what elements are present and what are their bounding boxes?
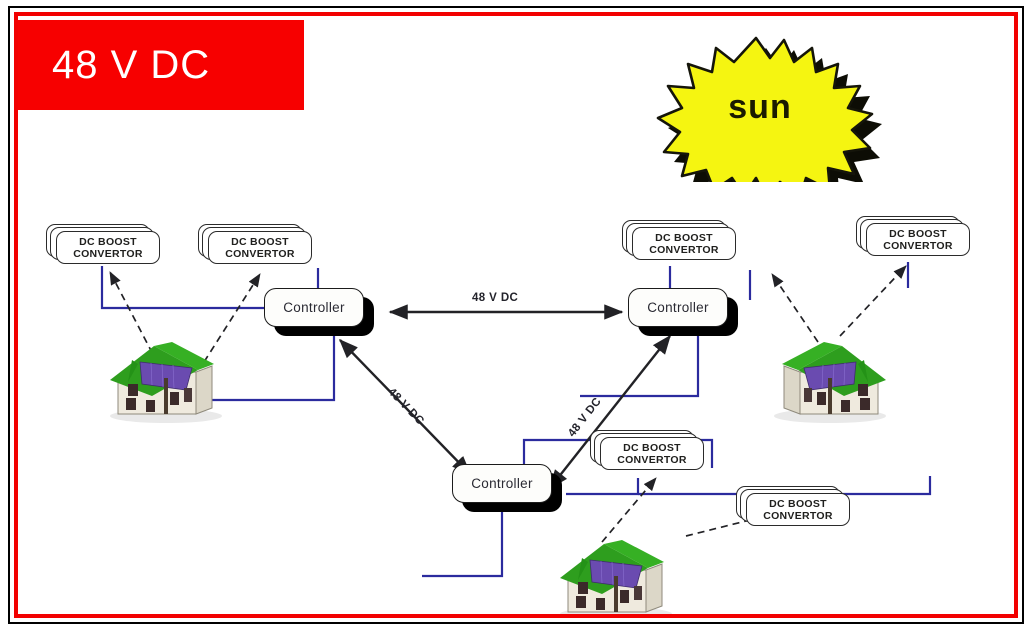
converter-line-2: CONVERTOR bbox=[225, 248, 295, 260]
converter-bottom-1[interactable]: DC BOOST CONVERTOR bbox=[590, 430, 702, 470]
house-with-solar-panel-icon bbox=[88, 316, 238, 426]
bus-label-horizontal: 48 V DC bbox=[472, 292, 518, 304]
converter-line-1: DC BOOST bbox=[655, 232, 713, 244]
converter-line-1: DC BOOST bbox=[769, 498, 827, 510]
converter-line-1: DC BOOST bbox=[231, 236, 289, 248]
card-layer-front: DC BOOST CONVERTOR bbox=[746, 493, 850, 526]
controller-label: Controller bbox=[471, 476, 533, 491]
card-layer-front: DC BOOST CONVERTOR bbox=[208, 231, 312, 264]
converter-line-2: CONVERTOR bbox=[73, 248, 143, 260]
converter-bottom-2[interactable]: DC BOOST CONVERTOR bbox=[736, 486, 848, 526]
house-right bbox=[758, 316, 908, 426]
house-with-solar-panel-icon bbox=[758, 316, 908, 426]
converter-line-1: DC BOOST bbox=[623, 442, 681, 454]
diagram-content: 48 V DC sun bbox=[18, 16, 1014, 614]
controller-left[interactable]: Controller bbox=[264, 288, 374, 336]
converter-left-2[interactable]: DC BOOST CONVERTOR bbox=[198, 224, 310, 264]
converter-right-1[interactable]: DC BOOST CONVERTOR bbox=[622, 220, 734, 260]
controller-label: Controller bbox=[283, 300, 345, 315]
card-layer-front: DC BOOST CONVERTOR bbox=[600, 437, 704, 470]
controller-bottom[interactable]: Controller bbox=[452, 464, 562, 512]
controller-right[interactable]: Controller bbox=[628, 288, 738, 336]
controller-body: Controller bbox=[264, 288, 364, 327]
controller-body: Controller bbox=[452, 464, 552, 503]
controller-label: Controller bbox=[647, 300, 709, 315]
converter-line-1: DC BOOST bbox=[79, 236, 137, 248]
converter-left-1[interactable]: DC BOOST CONVERTOR bbox=[46, 224, 158, 264]
card-layer-front: DC BOOST CONVERTOR bbox=[56, 231, 160, 264]
converter-line-2: CONVERTOR bbox=[763, 510, 833, 522]
converter-line-2: CONVERTOR bbox=[617, 454, 687, 466]
controller-body: Controller bbox=[628, 288, 728, 327]
converter-line-1: DC BOOST bbox=[889, 228, 947, 240]
house-with-solar-panel-icon bbox=[538, 514, 688, 614]
converter-line-2: CONVERTOR bbox=[883, 240, 953, 252]
connection-layer bbox=[18, 16, 1014, 614]
converter-line-2: CONVERTOR bbox=[649, 244, 719, 256]
card-layer-front: DC BOOST CONVERTOR bbox=[866, 223, 970, 256]
diagram-canvas: 48 V DC sun bbox=[0, 0, 1031, 629]
converter-right-2[interactable]: DC BOOST CONVERTOR bbox=[856, 216, 968, 256]
house-bottom bbox=[538, 514, 688, 614]
house-left bbox=[88, 316, 238, 426]
card-layer-front: DC BOOST CONVERTOR bbox=[632, 227, 736, 260]
